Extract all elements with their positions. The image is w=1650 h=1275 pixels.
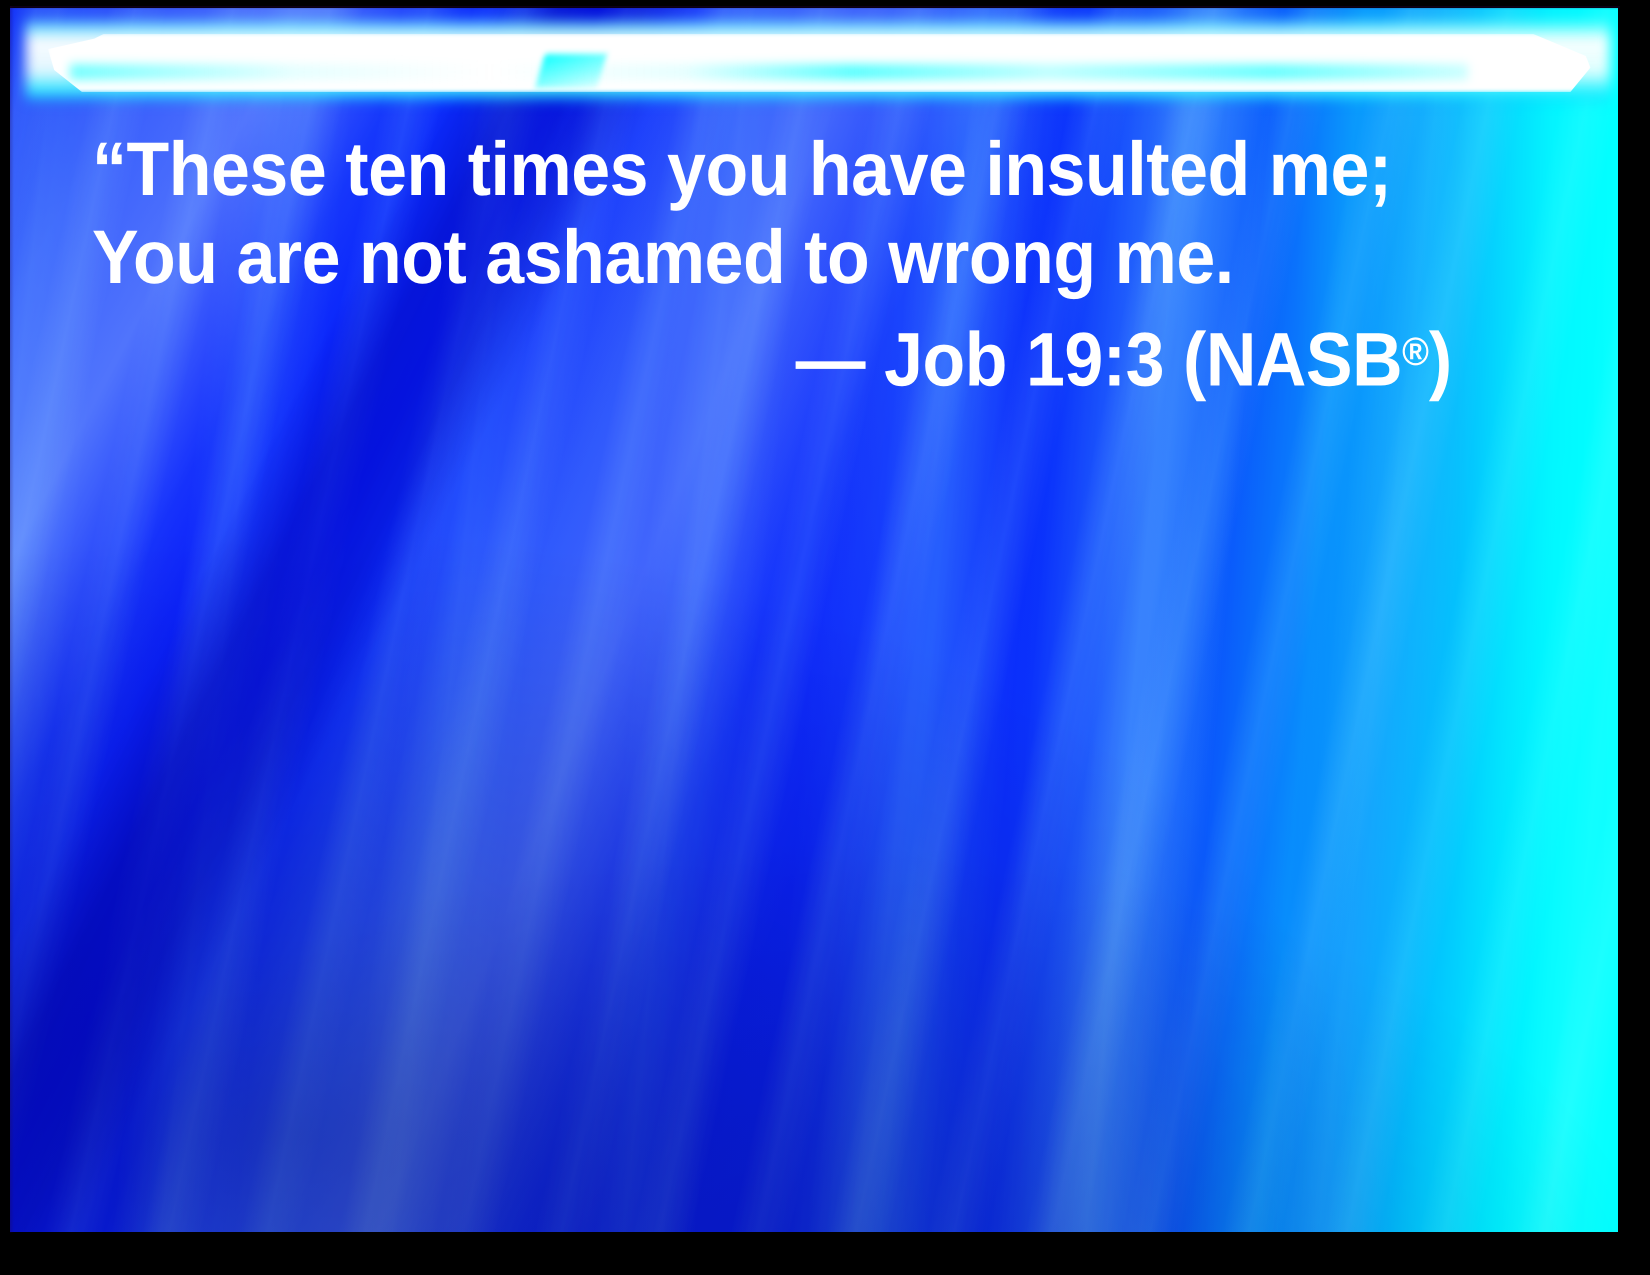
verse-line-2: You are not ashamed to wrong me. — [92, 214, 1452, 302]
frame-left-border — [0, 0, 10, 1275]
top-glow-cyan-streak — [70, 64, 1468, 80]
registered-trademark-icon: ® — [1402, 330, 1429, 374]
attribution-closing-paren: ) — [1429, 318, 1452, 403]
attribution-reference: Job 19:3 (NASB — [884, 318, 1402, 403]
verse-attribution: — Job 19:3 (NASB®) — [92, 308, 1452, 405]
frame-right-border — [1620, 0, 1650, 1275]
top-glow-notch — [535, 54, 607, 88]
frame-bottom-border — [0, 1233, 1650, 1275]
frame-top-border — [0, 0, 1650, 6]
attribution-dash: — — [796, 318, 865, 403]
top-glow-core — [48, 34, 1592, 92]
verse-line-1: “These ten times you have insulted me; — [92, 126, 1452, 214]
slide-frame: “These ten times you have insulted me; Y… — [0, 0, 1650, 1275]
background-artwork: “These ten times you have insulted me; Y… — [10, 8, 1618, 1232]
top-glow-band — [10, 12, 1618, 102]
verse-text-block: “These ten times you have insulted me; Y… — [92, 126, 1452, 405]
